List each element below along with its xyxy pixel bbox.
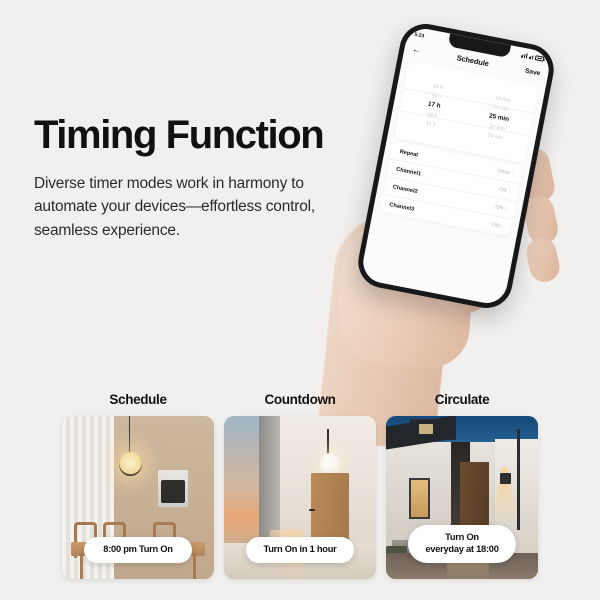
upper-window bbox=[419, 424, 433, 434]
list-item-value: ON › bbox=[495, 204, 507, 212]
wooden-door bbox=[311, 473, 349, 546]
minute-option[interactable]: 10 min bbox=[494, 95, 511, 104]
wifi-icon bbox=[528, 55, 533, 60]
status-bar-icons bbox=[520, 52, 544, 61]
mode-card-image-countdown[interactable]: Turn On in 1 hour bbox=[224, 416, 376, 579]
mode-card-countdown[interactable]: Countdown Turn On in 1 hour bbox=[224, 392, 376, 579]
list-item-value-text: ON bbox=[498, 186, 507, 193]
list-item-value: ON › bbox=[498, 186, 510, 194]
status-badge: Turn On in 1 hour bbox=[246, 537, 354, 563]
list-item-label: Channel1 bbox=[396, 166, 422, 177]
list-item-value-text: ON bbox=[491, 221, 500, 228]
mode-card-image-schedule[interactable]: 8:00 pm Turn On bbox=[62, 416, 214, 579]
status-badge-line2: everyday at 18:00 bbox=[425, 544, 498, 554]
hour-option-selected[interactable]: 17 h bbox=[427, 101, 441, 111]
promo-page: Timing Function Diverse timer modes work… bbox=[0, 0, 600, 600]
table-leg bbox=[193, 553, 196, 579]
minute-column[interactable]: 10 min 20 min 25 min 32 min 33 min bbox=[459, 74, 539, 163]
save-button[interactable]: Save bbox=[525, 68, 541, 78]
status-badge: Turn On everyday at 18:00 bbox=[408, 525, 516, 563]
back-arrow-icon[interactable]: ← bbox=[412, 45, 421, 54]
list-item-label: Channel3 bbox=[389, 202, 415, 213]
table-leg bbox=[80, 553, 83, 579]
chevron-right-icon: › bbox=[504, 206, 507, 212]
list-item-label: Channel2 bbox=[392, 184, 418, 195]
signal-bars-icon bbox=[520, 52, 527, 58]
mode-card-title: Schedule bbox=[109, 392, 166, 407]
list-item-value: Once › bbox=[497, 168, 514, 177]
mode-cards: Schedule 8:00 pm Turn On Countdown bbox=[0, 392, 600, 579]
status-badge: 8:00 pm Turn On bbox=[84, 537, 192, 563]
chevron-right-icon: › bbox=[511, 170, 514, 176]
minute-option[interactable]: 33 min bbox=[487, 132, 504, 141]
status-badge-line1: Turn On bbox=[445, 532, 479, 542]
mode-card-title: Circulate bbox=[435, 392, 490, 407]
wall-sconce bbox=[500, 473, 511, 484]
minute-option-selected[interactable]: 25 min bbox=[488, 112, 509, 124]
globe-pendant-lamp bbox=[320, 453, 340, 474]
list-item-label: Repeat bbox=[399, 149, 418, 158]
gutter-pipe bbox=[517, 429, 520, 530]
mode-card-circulate[interactable]: Circulate Turn On ev bbox=[386, 392, 538, 579]
chevron-right-icon: › bbox=[508, 188, 511, 194]
fingertip bbox=[524, 235, 562, 284]
pendant-lamp bbox=[119, 452, 142, 476]
list-item-value-text: Once bbox=[497, 168, 510, 176]
mode-card-title: Countdown bbox=[264, 392, 335, 407]
status-bar-time: 5:23 bbox=[414, 31, 425, 39]
smartphone: 5:23 ← Schedule Save 14 h bbox=[354, 20, 558, 313]
lamp-cord bbox=[129, 416, 131, 457]
mode-card-image-circulate[interactable]: Turn On everyday at 18:00 bbox=[386, 416, 538, 579]
list-item-value-text: ON bbox=[495, 204, 504, 211]
door-handle bbox=[309, 509, 315, 511]
lit-window bbox=[409, 478, 430, 519]
chevron-right-icon: › bbox=[501, 223, 504, 229]
mode-card-schedule[interactable]: Schedule 8:00 pm Turn On bbox=[62, 392, 214, 579]
phone-screen: 5:23 ← Schedule Save 14 h bbox=[360, 25, 553, 306]
pillar bbox=[259, 416, 280, 543]
hour-option[interactable]: 14 h bbox=[432, 83, 443, 91]
hour-option[interactable]: 19 h bbox=[425, 120, 436, 128]
oven bbox=[158, 470, 188, 507]
battery-icon bbox=[535, 55, 545, 62]
lamp-cord bbox=[327, 429, 328, 455]
list-item-value: ON › bbox=[491, 221, 503, 229]
hand-holding-phone: 5:23 ← Schedule Save 14 h bbox=[300, 20, 600, 400]
